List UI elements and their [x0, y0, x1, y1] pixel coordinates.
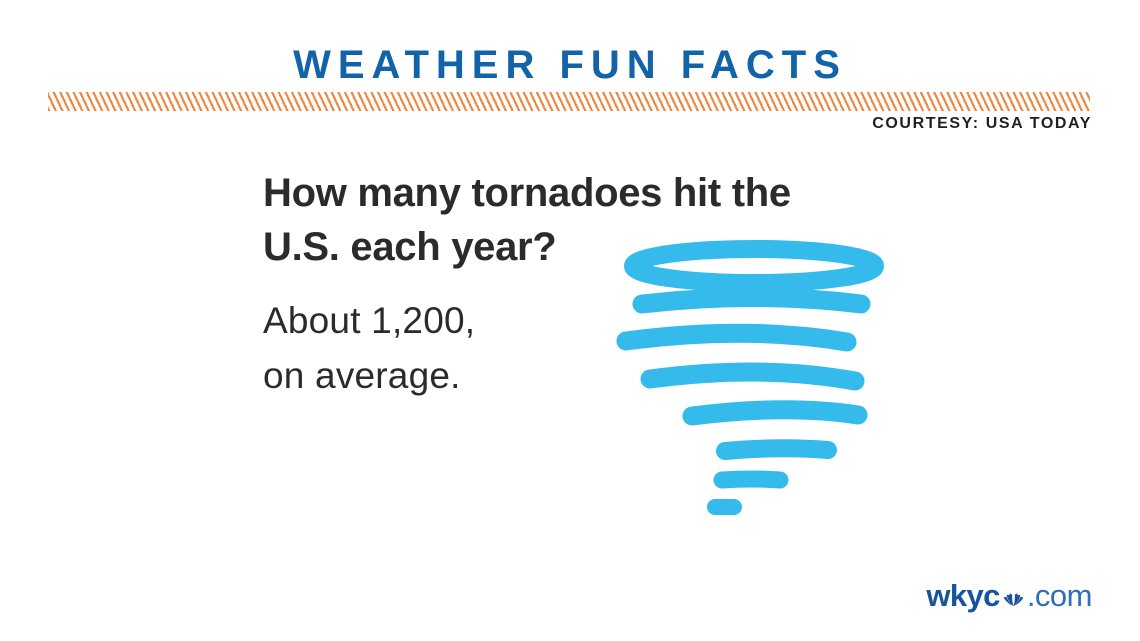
weather-fun-facts-graphic: WEATHER FUN FACTS COURTESY: USA TODAY Ho…: [0, 0, 1140, 641]
answer-line-2: on average.: [263, 348, 663, 403]
striped-divider: [48, 92, 1090, 111]
logo-brand-text: wkyc: [926, 580, 999, 611]
tornado-svg: [612, 236, 902, 521]
tornado-ring-6: [725, 448, 828, 451]
nbc-peacock-icon: [1001, 585, 1026, 607]
tornado-icon: [612, 236, 902, 521]
tornado-ring-2: [642, 298, 861, 305]
tornado-ring-3: [626, 333, 847, 342]
answer-text: About 1,200, on average.: [263, 293, 663, 403]
tornado-ring-7: [722, 479, 780, 480]
page-title: WEATHER FUN FACTS: [0, 41, 1140, 89]
question-line-1: How many tornadoes hit the: [263, 166, 903, 220]
tornado-ring-4: [650, 372, 855, 381]
tornado-ring-5: [692, 410, 858, 416]
wkyc-logo[interactable]: wkyc .com: [926, 578, 1092, 612]
answer-line-1: About 1,200,: [263, 293, 663, 348]
logo-suffix-text: .com: [1027, 580, 1092, 611]
tornado-ring-1: [633, 249, 875, 283]
courtesy-credit: COURTESY: USA TODAY: [872, 115, 1092, 133]
